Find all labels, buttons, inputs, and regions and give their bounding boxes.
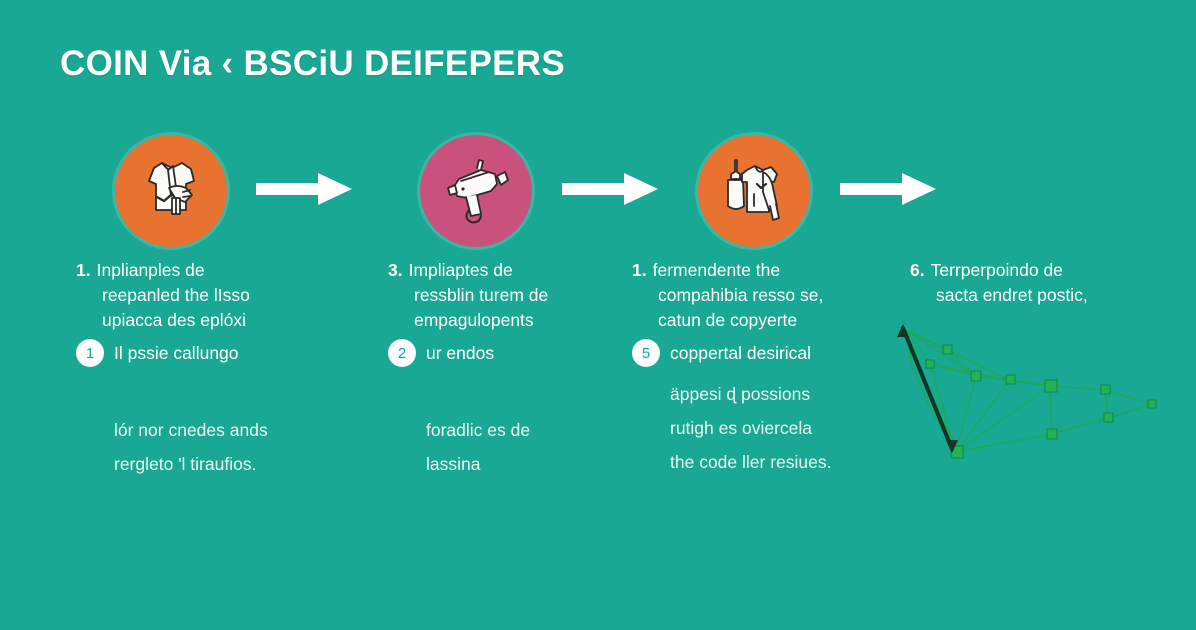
spray-gun-icon xyxy=(420,135,532,247)
step-number-2: 3. xyxy=(388,260,403,280)
step-badge-line-1: 1 Il pssie callungo xyxy=(76,339,326,367)
step-head-line: Impliaptes de xyxy=(409,260,513,280)
step-badge-line-2: 2 ur endos xyxy=(388,339,638,367)
step-column-4: 6.Terrperpoindo de sacta endret postic, xyxy=(910,258,1180,308)
step-tail-line: the code ller resiues. xyxy=(670,445,882,479)
step-number-1: 1. xyxy=(76,260,91,280)
flow-arrow-3 xyxy=(840,172,940,206)
step-tail-line: foradlic es de xyxy=(426,413,638,447)
step-column-1: 1.Inplianples de reepanled the lIsso upi… xyxy=(76,258,326,481)
step-badge-line-3: 5 coppertal desirical xyxy=(632,339,882,367)
step-head-line: catun de copyerte xyxy=(632,308,882,333)
step-heading-2: 3.Impliaptes de ressblin turem de empagu… xyxy=(388,258,638,333)
step-sub-line: äppesi ɖ possions xyxy=(670,377,882,411)
step-head-line: empagulopents xyxy=(388,308,638,333)
step-badge: 2 xyxy=(388,339,416,367)
step-heading-1: 1.Inplianples de reepanled the lIsso upi… xyxy=(76,258,326,333)
step-column-3: 1.fermendente the compahibia resso se, c… xyxy=(632,258,882,479)
step-badge-text: Il pssie callungo xyxy=(114,341,239,366)
step-column-2: 3.Impliaptes de ressblin turem de empagu… xyxy=(388,258,638,481)
step-head-line: Inplianples de xyxy=(97,260,205,280)
step-badge-text: ur endos xyxy=(426,341,494,366)
flow-arrow-2 xyxy=(562,172,662,206)
step-badge-text: coppertal desirical xyxy=(670,341,811,366)
bottle-and-garment-icon xyxy=(698,135,810,247)
garment-with-tool-icon xyxy=(115,135,227,247)
step-tail-2: foradlic es de lassina xyxy=(388,413,638,481)
step-head-line: compahibia resso se, xyxy=(632,283,882,308)
step-sub-3: äppesi ɖ possions xyxy=(632,377,882,411)
step-tail-line: rutigh es oviercela xyxy=(670,411,882,445)
step-head-line: upiacca des eplóxi xyxy=(76,308,326,333)
step-number-3: 1. xyxy=(632,260,647,280)
step-badge: 1 xyxy=(76,339,104,367)
infographic-canvas: COIN Via ‹ BSCiU DEIFEPERS xyxy=(0,0,1196,630)
step-tail-line: lór nor cnedes ands xyxy=(114,413,326,447)
triangular-wireframe-mesh xyxy=(890,318,1190,518)
step-heading-3: 1.fermendente the compahibia resso se, c… xyxy=(632,258,882,333)
step-tail-3: rutigh es oviercela the code ller resiue… xyxy=(632,411,882,479)
step-head-line: sacta endret postic, xyxy=(910,283,1180,308)
flow-arrow-1 xyxy=(256,172,356,206)
step-head-line: ressblin turem de xyxy=(388,283,638,308)
step-tail-1: lór nor cnedes ands rergleto 'l tiraufio… xyxy=(76,413,326,481)
step-head-line: fermendente the xyxy=(653,260,780,280)
step-head-line: Terrperpoindo de xyxy=(931,260,1063,280)
page-title: COIN Via ‹ BSCiU DEIFEPERS xyxy=(60,44,565,84)
step-tail-line: lassina xyxy=(426,447,638,481)
step-number-4: 6. xyxy=(910,260,925,280)
step-tail-line: rergleto 'l tiraufios. xyxy=(114,447,326,481)
step-head-line: reepanled the lIsso xyxy=(76,283,326,308)
step-heading-4: 6.Terrperpoindo de sacta endret postic, xyxy=(910,258,1180,308)
step-badge: 5 xyxy=(632,339,660,367)
process-icon-row xyxy=(0,132,1196,252)
